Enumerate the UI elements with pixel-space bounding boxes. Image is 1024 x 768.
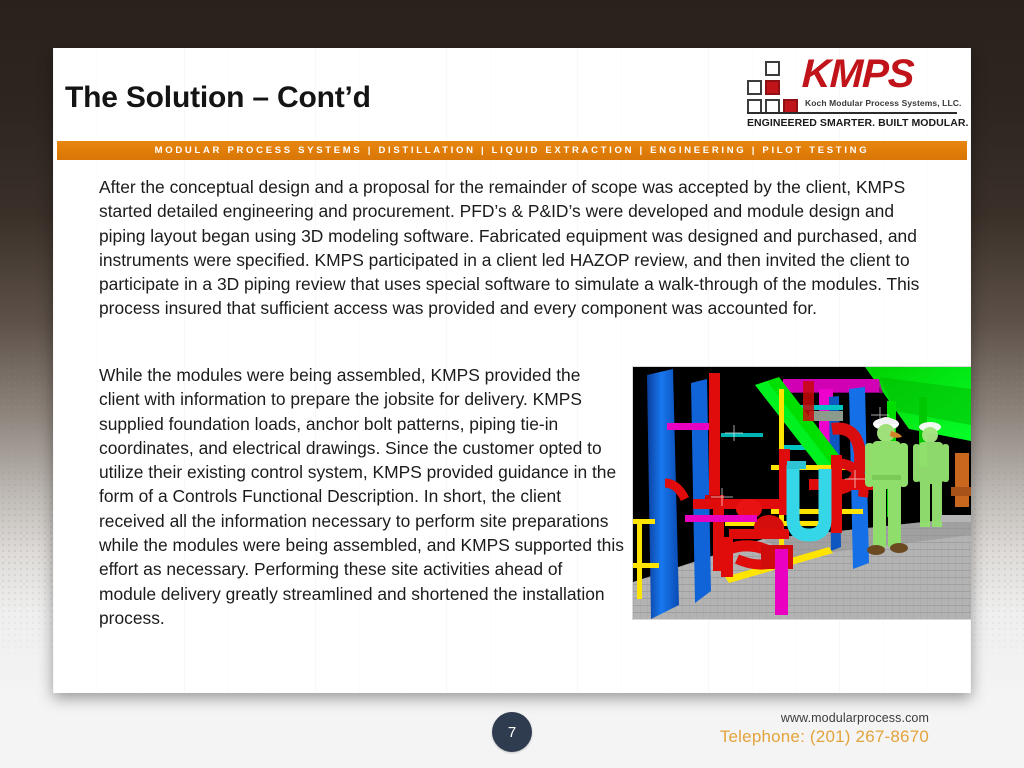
services-ribbon-text: MODULAR PROCESS SYSTEMS | DISTILLATION |…: [155, 145, 870, 156]
paragraph-first: After the conceptual design and a propos…: [99, 175, 939, 321]
page-number-badge: 7: [492, 712, 532, 752]
telephone-text: Telephone: (201) 267-8670: [720, 727, 929, 747]
page-number-label: 7: [508, 724, 516, 741]
logo-wordmark: KMPS: [801, 54, 914, 94]
logo-square-middle-left: [747, 80, 762, 95]
logo-squares-icon: [747, 61, 799, 115]
slide-body: After the conceptual design and a propos…: [53, 160, 971, 693]
contact-block: www.modularprocess.com Telephone: (201) …: [720, 711, 929, 747]
piping-3d-render-image: [633, 367, 971, 619]
logo-tagline: ENGINEERED SMARTER. BUILT MODULAR.: [747, 117, 968, 129]
page-title: The Solution – Cont’d: [65, 81, 371, 115]
website-link[interactable]: www.modularprocess.com: [720, 711, 929, 725]
paragraph-second: While the modules were being assembled, …: [99, 363, 624, 630]
kmps-logo: KMPS Koch Modular Process Systems, LLC. …: [743, 57, 959, 136]
slide-card: The Solution – Cont’d KMPS Koch Modular …: [53, 48, 971, 693]
piping-3d-render-graphic: [633, 367, 971, 619]
logo-divider: [747, 112, 957, 114]
services-ribbon: MODULAR PROCESS SYSTEMS | DISTILLATION |…: [57, 141, 967, 160]
slide-footer: 7 www.modularprocess.com Telephone: (201…: [0, 700, 1024, 768]
logo-square-middle-center: [765, 80, 780, 95]
slide-header: The Solution – Cont’d KMPS Koch Modular …: [53, 48, 971, 141]
logo-company-name: Koch Modular Process Systems, LLC.: [805, 98, 961, 108]
logo-square-top-middle: [765, 61, 780, 76]
